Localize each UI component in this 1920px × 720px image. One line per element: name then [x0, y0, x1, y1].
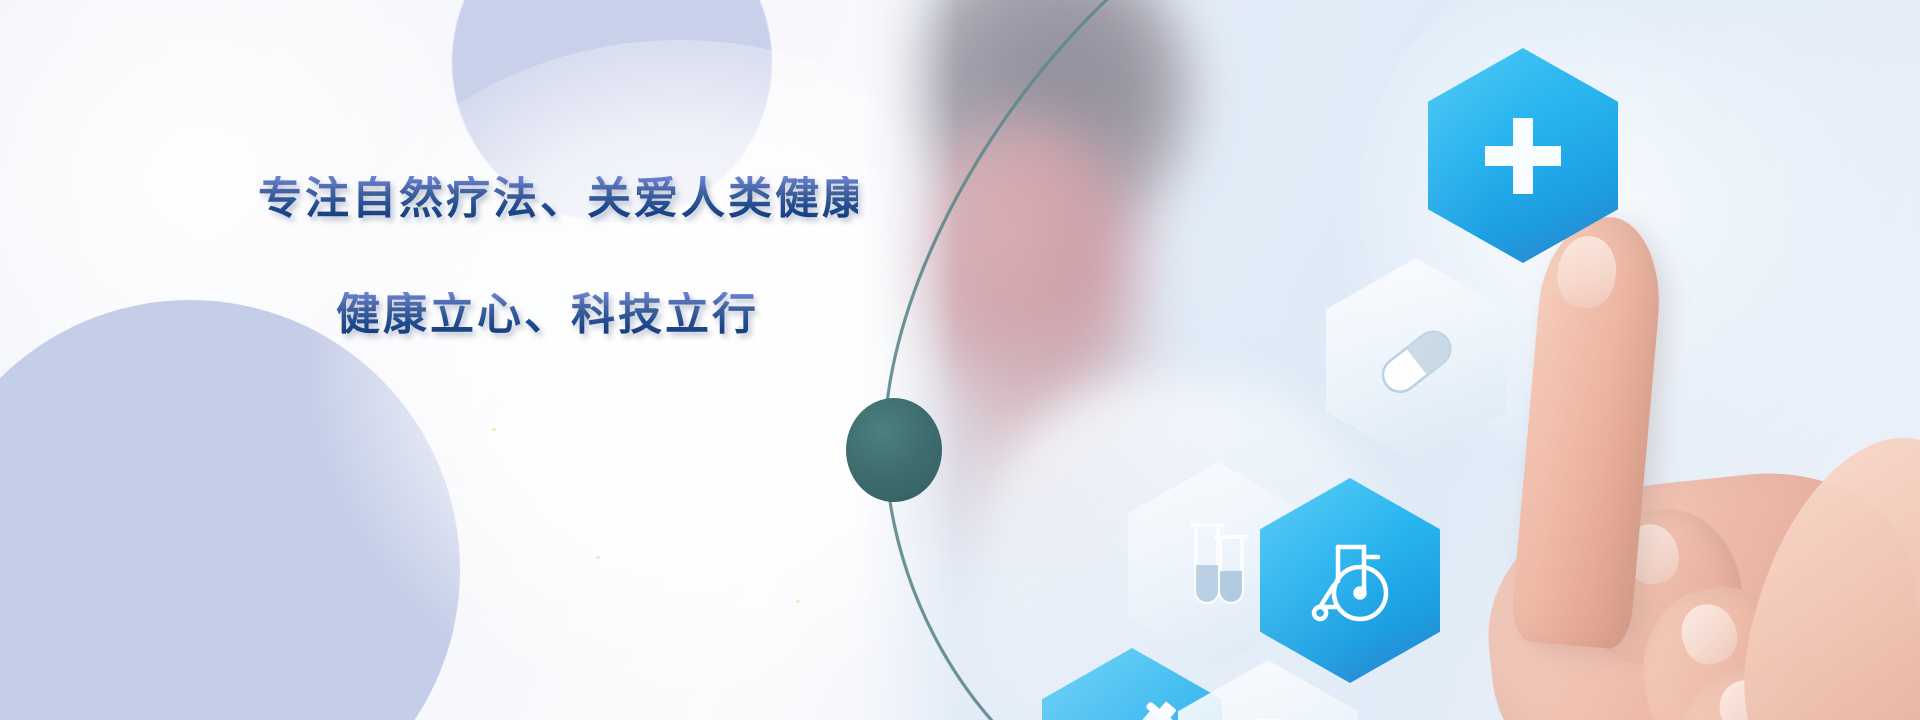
sparkle-speck: [796, 600, 800, 603]
sparkle-speck: [596, 556, 600, 559]
headline-block: 专注自然疗法、关爱人类健康 健康立心、科技立行: [258, 176, 858, 338]
headline-line-1: 专注自然疗法、关爱人类健康: [258, 176, 858, 222]
teal-dot: [846, 398, 942, 502]
headline-line-2: 健康立心、科技立行: [336, 292, 858, 338]
photo-haze-overlay: [860, 0, 1920, 720]
hero-banner: 专注自然疗法、关爱人类健康 健康立心、科技立行: [0, 0, 1920, 720]
sparkle-speck: [492, 428, 496, 431]
hero-photo: [860, 0, 1920, 720]
